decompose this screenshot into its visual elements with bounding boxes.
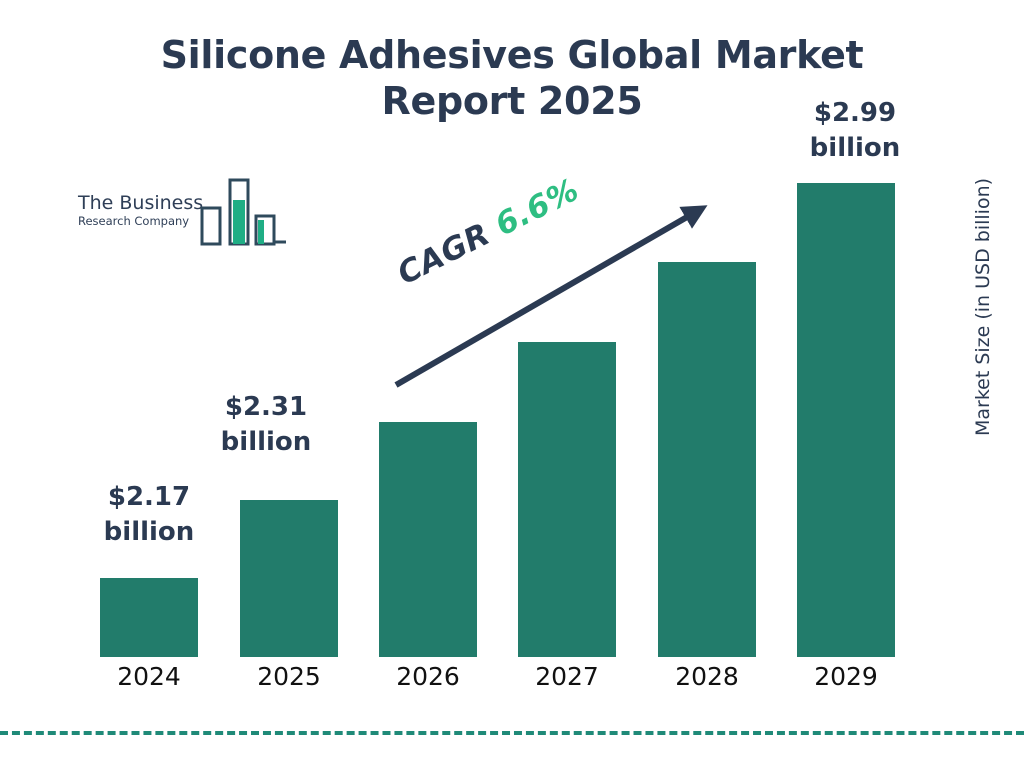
y-axis-label: Market Size (in USD billion) [972,177,994,437]
xtick-2028: 2028 [647,662,767,691]
xtick-2024: 2024 [89,662,209,691]
xtick-2027: 2027 [507,662,627,691]
footer-divider [0,731,1024,735]
xtick-2029: 2029 [786,662,906,691]
plot-area: $2.17 billion $2.31 billion $2.99 billio… [0,0,1024,768]
xtick-2025: 2025 [229,662,349,691]
xtick-2026: 2026 [368,662,488,691]
chart-canvas: Silicone Adhesives Global Market Report … [0,0,1024,768]
cagr-arrow [0,0,1024,768]
